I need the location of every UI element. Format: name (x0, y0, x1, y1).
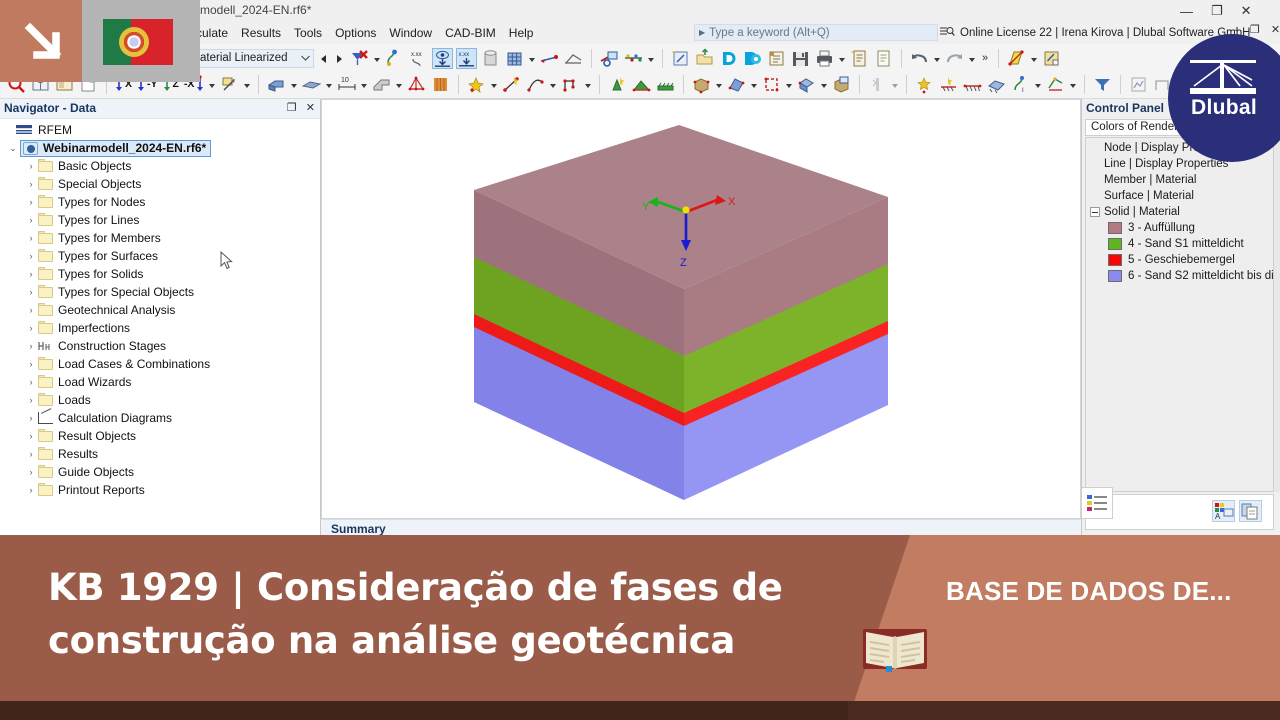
filter-icon[interactable] (1092, 74, 1113, 95)
section-cut-icon[interactable] (1006, 48, 1027, 69)
new-rigid-caret[interactable] (785, 74, 793, 95)
chevron-right-icon[interactable]: › (24, 251, 38, 261)
menu-item-results[interactable]: Results (241, 26, 281, 40)
edit-colors-icon[interactable]: A (1212, 500, 1235, 522)
tree-item-label: Types for Solids (58, 267, 143, 281)
print-icon[interactable] (814, 48, 835, 69)
folder-icon (38, 448, 53, 460)
cp-material-item[interactable]: 3 - Auffüllung (1086, 220, 1273, 236)
redo-icon[interactable] (944, 48, 965, 69)
chevron-right-icon[interactable]: › (24, 269, 38, 279)
section-cut-caret[interactable] (1030, 48, 1038, 69)
material-model-value: aterial Linearized (200, 52, 288, 64)
control-panel-scrollbar[interactable] (1274, 137, 1280, 492)
folder-icon (38, 286, 53, 298)
new-model-icon[interactable] (670, 48, 691, 69)
new-contact-icon[interactable] (726, 74, 747, 95)
section-caret[interactable] (395, 74, 403, 95)
chevron-down-icon[interactable]: ⌄ (6, 143, 20, 154)
cp-group-member-material[interactable]: Member | Material (1086, 172, 1273, 188)
chevron-right-icon[interactable]: › (24, 305, 38, 315)
show-numbering-icon[interactable] (384, 48, 405, 69)
support-reactions-icon[interactable] (539, 48, 560, 69)
model-file-icon (23, 142, 38, 155)
new-contact-caret[interactable] (750, 74, 758, 95)
navigator-close-icon[interactable]: ✕ (306, 101, 315, 114)
dlubal-wordmark: Dlubal (1168, 96, 1280, 120)
new-nodal-support-icon[interactable] (914, 74, 935, 95)
new-thickness-icon[interactable] (796, 74, 817, 95)
tree-item-label: Special Objects (58, 177, 141, 191)
new-release-icon[interactable] (1045, 74, 1066, 95)
menu-items: culate Results Tools Options Window CAD-… (196, 22, 533, 44)
chevron-right-icon[interactable]: › (24, 341, 38, 351)
render-solid-icon[interactable] (480, 48, 501, 69)
material-model-combo[interactable]: aterial Linearized (196, 49, 314, 68)
construction-stages-icon (38, 340, 53, 352)
close-icon[interactable]: ✕ (1241, 3, 1252, 19)
tree-item-types-for-lines[interactable]: ›Types for Lines (0, 211, 320, 229)
layer-icon[interactable] (430, 74, 451, 95)
license-text: Online License 22 | Irena Kirova | Dluba… (960, 27, 1250, 39)
restore-icon[interactable]: ❐ (1211, 3, 1223, 19)
tree-item-label: Geotechnical Analysis (58, 303, 175, 317)
video-lower-third-banner: KB 1929 | Consideração de fases de const… (0, 535, 1280, 720)
cp-group-label: Surface | Material (1104, 190, 1194, 202)
chevron-right-icon[interactable]: › (24, 161, 38, 171)
control-panel-list[interactable]: Node | Display PropertiesLine | Display … (1085, 137, 1274, 492)
portugal-flag-icon (103, 19, 173, 65)
cp-group-surface-material[interactable]: Surface | Material (1086, 188, 1273, 204)
tree-item-label: Load Wizards (58, 375, 131, 389)
summary-label: Summary (331, 522, 386, 536)
dimension-caret[interactable] (360, 74, 368, 95)
redo-caret[interactable] (968, 48, 976, 69)
tree-item-label: Types for Lines (58, 213, 139, 227)
chevron-right-icon[interactable]: › (24, 323, 38, 333)
new-solid-icon[interactable] (691, 74, 712, 95)
render-mode-icon[interactable] (266, 74, 287, 95)
print-preview-icon[interactable] (766, 48, 787, 69)
folder-icon (38, 160, 53, 172)
new-polyline-caret[interactable] (584, 74, 592, 95)
banner-subtitle: BASE DE DADOS DE... (946, 573, 1246, 611)
overlay-thumbnail-box (82, 0, 200, 82)
tree-item-printout-reports[interactable]: ›Printout Reports (0, 481, 320, 499)
new-hinge-caret[interactable] (891, 74, 899, 95)
tree-item-load-wizards[interactable]: ›Load Wizards (0, 373, 320, 391)
tree-item-label: Types for Nodes (58, 195, 145, 209)
new-opening-icon[interactable] (631, 74, 652, 95)
svg-text:Y: Y (642, 201, 650, 213)
folder-icon (38, 394, 53, 406)
new-surface-icon[interactable] (607, 74, 628, 95)
navigator-panel: Navigator - Data ❐ ✕ RFEM ⌄ (0, 99, 321, 535)
new-release-caret[interactable] (1069, 74, 1077, 95)
tree-item-results[interactable]: ›Results (0, 445, 320, 463)
new-member-set-icon[interactable] (655, 74, 676, 95)
deactivate-results-icon[interactable] (349, 48, 370, 69)
close-icon-2[interactable]: ✕ (1271, 25, 1280, 36)
chevron-right-icon[interactable]: › (24, 233, 38, 243)
menu-item-tools[interactable]: Tools (294, 26, 322, 40)
chevron-right-icon[interactable]: › (24, 359, 38, 369)
save-icon[interactable] (790, 48, 811, 69)
mesh-icon[interactable] (406, 74, 427, 95)
new-solid-caret[interactable] (715, 74, 723, 95)
soil-model-3d: X Y Z (322, 100, 1080, 518)
tree-item-load-cases-combinations[interactable]: ›Load Cases & Combinations (0, 355, 320, 373)
open-file-icon[interactable] (694, 48, 715, 69)
tree-root-rfem[interactable]: RFEM (0, 121, 320, 139)
chevron-right-icon[interactable]: › (24, 467, 38, 477)
cp-material-item[interactable]: 6 - Sand S2 mitteldicht bis dicht (1086, 268, 1273, 284)
chevron-right-icon[interactable]: › (24, 179, 38, 189)
tree-item-construction-stages[interactable]: ›Construction Stages (0, 337, 320, 355)
member-diagram-icon[interactable] (563, 48, 584, 69)
new-line-icon[interactable] (501, 74, 522, 95)
new-cutting-icon[interactable] (831, 74, 852, 95)
new-node-icon[interactable] (466, 74, 487, 95)
arrow-down-right-icon (0, 0, 82, 82)
legend-icon (1082, 488, 1112, 518)
svg-text:Z: Z (680, 257, 687, 269)
svg-text:A: A (1215, 512, 1221, 521)
tree-root-label: RFEM (38, 123, 72, 137)
tree-item-basic-objects[interactable]: ›Basic Objects (0, 157, 320, 175)
undo-icon[interactable] (909, 48, 930, 69)
chevron-right-icon[interactable]: › (24, 377, 38, 387)
chevron-right-icon[interactable]: › (24, 197, 38, 207)
tree-item-geotechnical-analysis[interactable]: ›Geotechnical Analysis (0, 301, 320, 319)
rstab-icon[interactable] (718, 48, 739, 69)
search-arrow-icon: ▶ (699, 28, 705, 37)
navigator-tree[interactable]: RFEM ⌄ Webinarmodell_2024-EN.rf6* ›Basic… (0, 119, 320, 535)
chart-icon[interactable] (1128, 74, 1149, 95)
undo-caret[interactable] (933, 48, 941, 69)
result-table-caret[interactable] (647, 48, 655, 69)
material-color-swatch[interactable] (1108, 270, 1122, 282)
folder-icon (38, 250, 53, 262)
render-values-icon[interactable]: x.xx (408, 48, 429, 69)
banner-base-left (0, 701, 848, 720)
tree-item-types-for-surfaces[interactable]: ›Types for Surfaces (0, 247, 320, 265)
print-caret[interactable] (838, 48, 846, 69)
svg-text:x.xx: x.xx (459, 52, 470, 58)
rsection-icon[interactable] (742, 48, 763, 69)
new-thickness-caret[interactable] (820, 74, 828, 95)
cp-group-solid-material[interactable]: Solid | Material (1086, 204, 1273, 220)
tree-model-label: Webinarmodell_2024-EN.rf6* (43, 141, 206, 155)
cp-group-label: Solid | Material (1104, 206, 1180, 218)
navigator-dock-icon[interactable]: ❐ (287, 101, 297, 114)
search-placeholder: Type a keyword (Alt+Q) (709, 27, 829, 39)
snap-caret[interactable] (243, 74, 251, 95)
navigator-title: Navigator - Data (4, 101, 96, 115)
chevron-right-icon[interactable]: › (24, 431, 38, 441)
rfem-application-window: modell_2024-EN.rf6* — ❐ ✕ culate Results… (0, 0, 1280, 720)
new-hinge-release-caret[interactable] (1034, 74, 1042, 95)
folder-icon (38, 196, 53, 208)
material-color-swatch[interactable] (1108, 254, 1122, 266)
material-color-swatch[interactable] (1108, 222, 1122, 234)
tree-item-special-objects[interactable]: ›Special Objects (0, 175, 320, 193)
new-surface-support-icon[interactable] (986, 74, 1007, 95)
tree-item-label: Guide Objects (58, 465, 134, 479)
window-controls-top[interactable]: — ❐ ✕ (1180, 3, 1252, 19)
keyword-search-input[interactable]: ▶ Type a keyword (Alt+Q) (694, 24, 938, 41)
collapse-box-icon[interactable] (1090, 207, 1100, 217)
tree-item-types-for-nodes[interactable]: ›Types for Nodes (0, 193, 320, 211)
banner-headline: KB 1929 | Consideração de fases de const… (48, 561, 828, 668)
tree-item-label: Loads (58, 393, 91, 407)
cp-group-label: Member | Material (1104, 174, 1196, 186)
menu-item-cad-bim[interactable]: CAD-BIM (445, 26, 496, 40)
tree-item-label: Result Objects (58, 429, 136, 443)
tree-item-label: Types for Surfaces (58, 249, 158, 263)
model-viewport[interactable]: X Y Z X Y Z (321, 99, 1081, 519)
folder-icon (38, 178, 53, 190)
navigator-header: Navigator - Data ❐ ✕ (0, 99, 320, 119)
folder-icon (38, 214, 53, 226)
svg-text:x.xx: x.xx (411, 52, 422, 58)
svg-text:I: I (1022, 88, 1024, 94)
tree-item-types-for-members[interactable]: ›Types for Members (0, 229, 320, 247)
folder-icon (38, 322, 53, 334)
rfem-icon (16, 124, 32, 136)
tree-item-label: Calculation Diagrams (58, 411, 172, 425)
folder-icon (38, 376, 53, 388)
tree-item-model[interactable]: ⌄ Webinarmodell_2024-EN.rf6* (0, 139, 320, 157)
render-mode-caret[interactable] (290, 74, 298, 95)
chevron-right-icon[interactable]: › (24, 287, 38, 297)
new-line-support-icon[interactable] (938, 74, 959, 95)
new-arc-icon[interactable] (525, 74, 546, 95)
calculation-diagram-icon (38, 412, 53, 424)
restore-icon-2[interactable]: ❐ (1250, 25, 1260, 36)
dlubal-mark-icon (1190, 60, 1256, 94)
folder-icon (38, 484, 53, 496)
folder-icon (38, 358, 53, 370)
new-arc-caret[interactable] (549, 74, 557, 95)
open-book-icon (862, 625, 928, 673)
folder-icon (38, 304, 53, 316)
tree-item-label: Types for Members (58, 231, 161, 245)
tree-item-label: Types for Special Objects (58, 285, 194, 299)
view-axis-caret[interactable] (208, 74, 216, 95)
chevron-right-icon[interactable]: › (24, 395, 38, 405)
tree-item-guide-objects[interactable]: ›Guide Objects (0, 463, 320, 481)
svg-text:X: X (728, 196, 736, 208)
result-table-icon[interactable] (623, 48, 644, 69)
next-case-button[interactable] (333, 49, 346, 68)
cp-group-label: Line | Display Properties (1104, 158, 1228, 170)
svg-text:10: 10 (341, 77, 349, 84)
tree-item-label: Construction Stages (58, 339, 166, 353)
chevron-right-icon[interactable]: › (24, 413, 38, 423)
document-title: modell_2024-EN.rf6* (200, 3, 311, 17)
control-panel-title: Control Panel (1086, 101, 1164, 115)
tree-item-label: Printout Reports (58, 483, 145, 497)
add-object-icon[interactable] (1041, 48, 1062, 69)
tree-item-label: Basic Objects (58, 159, 131, 173)
overlay-arrow-box (0, 0, 82, 82)
new-polyline-icon[interactable] (560, 74, 581, 95)
tree-item-types-for-special-objects[interactable]: ›Types for Special Objects (0, 283, 320, 301)
more-commands-icon[interactable]: » (979, 52, 991, 64)
dimension-icon[interactable]: 10 (336, 74, 357, 95)
new-rigid-icon[interactable] (761, 74, 782, 95)
show-deformation-icon[interactable] (432, 48, 453, 69)
menu-item-calculate[interactable]: culate (196, 26, 228, 40)
menu-item-help[interactable]: Help (509, 26, 534, 40)
chevron-down-icon (301, 55, 310, 61)
tree-item-result-objects[interactable]: ›Result Objects (0, 427, 320, 445)
tree-item-types-for-solids[interactable]: ›Types for Solids (0, 265, 320, 283)
banner-base-right (848, 701, 1280, 720)
folder-icon (38, 430, 53, 442)
plane-caret[interactable] (325, 74, 333, 95)
cp-material-item[interactable]: 5 - Geschiebemergel (1086, 252, 1273, 268)
legend-toggle-button[interactable] (1081, 487, 1113, 519)
menu-item-options[interactable]: Options (335, 26, 376, 40)
folder-icon (38, 268, 53, 280)
chevron-right-icon[interactable]: › (24, 485, 38, 495)
tree-item-imperfections[interactable]: ›Imperfections (0, 319, 320, 337)
tree-item-loads[interactable]: ›Loads (0, 391, 320, 409)
new-hinge-icon[interactable] (867, 74, 888, 95)
result-settings-icon[interactable] (599, 48, 620, 69)
new-node-caret[interactable] (490, 74, 498, 95)
chevron-right-icon[interactable]: › (24, 449, 38, 459)
prev-case-button[interactable] (317, 49, 330, 68)
folder-icon (38, 466, 53, 478)
cp-material-label: 3 - Auffüllung (1128, 222, 1195, 234)
minimize-icon[interactable]: — (1180, 4, 1193, 19)
control-panel: Control Panel Colors of Rendered Obj Nod… (1081, 99, 1280, 535)
cp-material-label: 6 - Sand S2 mitteldicht bis dicht (1128, 270, 1274, 282)
document-icon[interactable] (873, 48, 894, 69)
copy-legend-icon[interactable] (1239, 500, 1262, 522)
new-member-support-icon[interactable] (962, 74, 983, 95)
deactivate-results-caret[interactable] (373, 48, 381, 69)
new-hinge-release-icon[interactable]: I (1010, 74, 1031, 95)
cp-material-item[interactable]: 4 - Sand S1 mitteldicht (1086, 236, 1273, 252)
tree-item-label: Load Cases & Combinations (58, 357, 210, 371)
tree-item-label: Imperfections (58, 321, 130, 335)
tree-item-label: Results (58, 447, 98, 461)
menu-item-window[interactable]: Window (389, 26, 432, 40)
section-icon[interactable] (371, 74, 392, 95)
cp-material-label: 5 - Geschiebemergel (1128, 254, 1235, 266)
new-report-icon[interactable] (849, 48, 870, 69)
cp-material-label: 4 - Sand S1 mitteldicht (1128, 238, 1244, 250)
chevron-right-icon[interactable]: › (24, 215, 38, 225)
render-grid-icon[interactable] (504, 48, 525, 69)
tree-item-calculation-diagrams[interactable]: ›Calculation Diagrams (0, 409, 320, 427)
show-values-icon[interactable]: x.xx (456, 48, 477, 69)
render-grid-caret[interactable] (528, 48, 536, 69)
plane-icon[interactable] (301, 74, 322, 95)
license-search-icon (940, 26, 955, 41)
material-color-swatch[interactable] (1108, 238, 1122, 250)
folder-icon (38, 232, 53, 244)
snap-icon[interactable] (219, 74, 240, 95)
control-panel-footer: A (1085, 494, 1274, 530)
